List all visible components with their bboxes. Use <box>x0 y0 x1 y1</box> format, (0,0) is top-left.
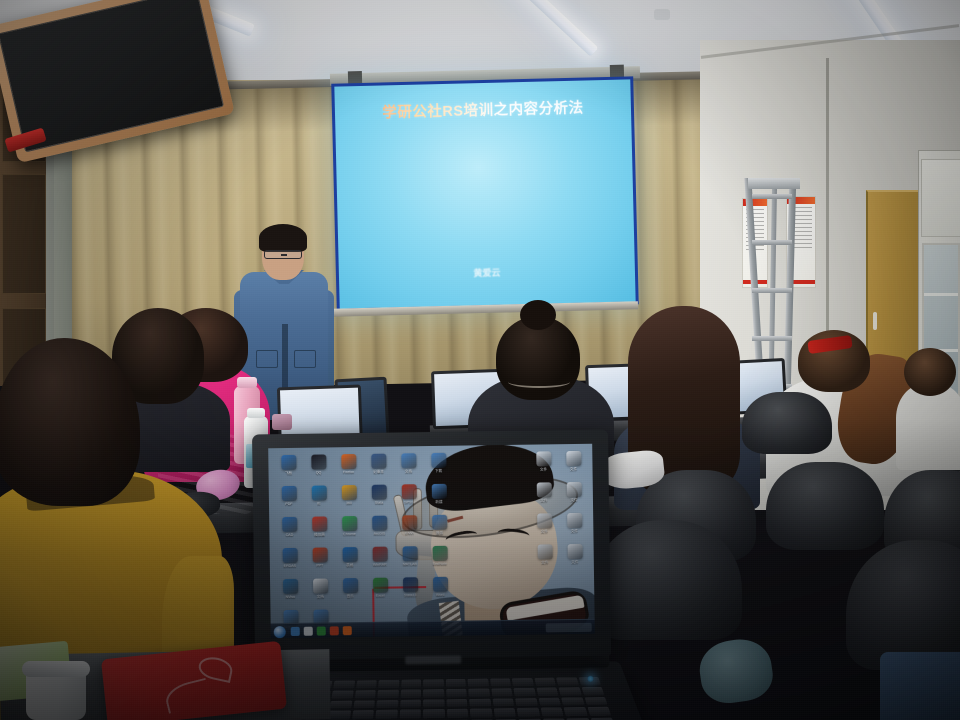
cabinet-top-shelf <box>921 159 960 237</box>
desktop-icon-label: 遥感 <box>425 531 453 540</box>
desktop-icon-label: CAD <box>275 533 303 542</box>
icon-r5-glyph <box>537 513 552 528</box>
desktop-icon-label: 文件 <box>560 529 588 538</box>
desktop-icon-label: MATLAB <box>396 562 424 571</box>
keyboard-key[interactable] <box>399 710 421 719</box>
shirt-pocket <box>294 350 316 368</box>
icon-notepad[interactable]: 记事本 <box>363 452 393 483</box>
keyboard-key[interactable] <box>556 677 578 685</box>
keyboard-key[interactable] <box>469 698 491 707</box>
keyboard-key[interactable] <box>401 680 421 688</box>
keyboard-key[interactable] <box>561 697 584 706</box>
cabinet-panel <box>2 174 46 294</box>
keyboard-key[interactable] <box>377 700 399 709</box>
keyboard-key[interactable] <box>534 678 556 686</box>
desktop-icon-label: NVivo <box>276 595 304 604</box>
system-tray[interactable] <box>546 623 592 633</box>
keyboard-key[interactable] <box>468 688 489 696</box>
desktop-icon-label: 文件 <box>559 467 587 476</box>
icon-r6-glyph <box>567 513 582 528</box>
student-hair <box>0 338 140 506</box>
start-button-icon[interactable] <box>274 626 286 638</box>
icon-nvivo-glyph <box>283 579 298 594</box>
icon-envi[interactable]: ENVI <box>394 513 424 544</box>
icon-360[interactable]: 360 <box>334 483 364 514</box>
desktop-icon-label: Chrome <box>335 532 363 541</box>
icon-r2[interactable]: 文件 <box>558 449 588 480</box>
keyboard-key[interactable] <box>587 707 611 716</box>
keyboard-key[interactable] <box>490 678 511 686</box>
keyboard-key[interactable] <box>423 709 445 718</box>
ladder-step <box>752 288 792 293</box>
keyboard-key[interactable] <box>512 678 534 686</box>
desktop-icon-label: 文件 <box>531 560 559 569</box>
desktop-icon-label: 文件 <box>530 498 558 507</box>
desktop-icon-label: 文件 <box>530 529 558 538</box>
icon-r8-glyph <box>568 544 583 559</box>
icon-player[interactable]: 播放器 <box>304 514 334 545</box>
chair-right-2 <box>766 462 884 550</box>
keyboard-key[interactable] <box>328 711 351 720</box>
icon-word-doc-glyph <box>313 578 328 593</box>
icon-endnote[interactable]: EndNote <box>425 544 455 575</box>
keyboard-key[interactable] <box>400 699 421 708</box>
icon-qq[interactable]: QQ <box>303 452 333 483</box>
book-pattern <box>163 678 212 714</box>
icon-word-doc[interactable]: 文档 <box>305 576 335 607</box>
keyboard-key[interactable] <box>334 680 355 688</box>
icon-acrobat[interactable]: PDF <box>274 484 304 515</box>
keyboard-key[interactable] <box>513 688 535 696</box>
bottle-cap <box>237 377 257 388</box>
icon-folder-rs-glyph <box>432 515 447 530</box>
icon-player-glyph <box>312 516 327 531</box>
student-body <box>896 384 960 470</box>
desktop-icon-label: 记事本 <box>365 470 393 479</box>
icon-word-glyph <box>433 577 448 592</box>
glasses-icon <box>264 250 302 259</box>
smoke-detector-icon <box>654 9 670 20</box>
icon-endnote-glyph <box>433 546 448 561</box>
icon-matlab-glyph <box>403 546 418 561</box>
keyboard-key[interactable] <box>446 689 467 697</box>
icon-powerpoint-glyph <box>313 547 328 562</box>
student-head <box>904 348 956 396</box>
keyboard-key[interactable] <box>538 697 561 706</box>
keyboard-key[interactable] <box>470 709 492 718</box>
laptop-brand-logo <box>405 656 461 665</box>
luffy-teeth <box>506 595 585 621</box>
keyboard-key[interactable] <box>423 699 444 708</box>
desktop-icon-label: 新建 <box>425 500 453 509</box>
icon-r4-glyph <box>567 482 582 497</box>
keyboard-key[interactable] <box>468 679 489 687</box>
desktop-icon-label: IE <box>305 501 333 510</box>
hair-bun <box>520 300 556 330</box>
icon-winamp[interactable]: 音乐 <box>335 576 365 607</box>
icon-r4[interactable]: 文件 <box>559 480 589 511</box>
classroom-photo: 学研公社RS培训之内容分析法 黄爱云 <box>0 0 960 720</box>
desktop-icon-label: 音乐 <box>336 594 364 603</box>
icon-folder-dl[interactable]: 下载 <box>423 451 453 482</box>
taskbar-icon[interactable] <box>291 627 300 636</box>
icon-cad[interactable]: CAD <box>274 515 304 546</box>
door-handle <box>873 312 877 330</box>
desktop-icon-label: ArcGIS <box>365 532 393 541</box>
desktop-icon-label: PDF <box>275 502 303 511</box>
keyboard-key[interactable] <box>446 699 467 708</box>
icon-r7-glyph <box>538 544 553 559</box>
desktop-icon-label: Excel <box>366 594 394 603</box>
icon-folder-doc[interactable]: 文档 <box>393 451 423 482</box>
icon-word[interactable]: Word <box>425 575 455 606</box>
keyboard-key[interactable] <box>378 690 399 698</box>
icon-qq-glyph <box>311 454 326 469</box>
icon-erdas[interactable]: ERDAS <box>275 546 305 577</box>
desktop-icon-label: 文档 <box>395 469 423 478</box>
cabinet-shelf <box>924 293 958 296</box>
icon-envi-glyph <box>402 515 417 530</box>
desktop-icon-grid[interactable]: 飞秋QQFirefox记事本文档下载PDFIE360StataSPSS新建CAD… <box>273 451 456 639</box>
icon-feiq-glyph <box>281 455 296 470</box>
presenter-hair <box>259 224 307 252</box>
icon-erdas-glyph <box>283 548 298 563</box>
desktop-icon-label: Word <box>426 593 454 602</box>
desktop-icon-grid-right[interactable]: 文件文件文件文件文件文件文件文件 <box>528 449 590 574</box>
desktop-icon-label: 360 <box>335 501 363 510</box>
icon-spss[interactable]: SPSS <box>394 482 424 513</box>
icon-matlab[interactable]: MATLAB <box>395 544 425 575</box>
keyboard-key[interactable] <box>353 700 375 709</box>
keyboard-key[interactable] <box>491 688 513 696</box>
projection-screen: 学研公社RS培训之内容分析法 黄爱云 <box>331 76 638 311</box>
keyboard-key[interactable] <box>356 680 377 688</box>
icon-r1-glyph <box>536 451 551 466</box>
keyboard-key[interactable] <box>355 690 377 698</box>
icon-firefox[interactable]: Firefox <box>333 452 363 483</box>
person-jeans <box>880 652 960 720</box>
icon-r5[interactable]: 文件 <box>529 511 559 542</box>
windows-taskbar[interactable] <box>271 619 595 639</box>
icon-folder-doc-glyph <box>401 453 416 468</box>
icon-folder-new-glyph <box>432 484 447 499</box>
taskbar-icon[interactable] <box>304 627 313 636</box>
keyboard-key[interactable] <box>564 707 588 716</box>
keyboard-key[interactable] <box>332 690 354 698</box>
keyboard-key[interactable] <box>517 708 540 717</box>
desktop-icon-label: SPSS <box>395 500 423 509</box>
white-cup <box>26 668 86 720</box>
icon-r8[interactable]: 文件 <box>560 542 590 573</box>
icon-notepad-glyph <box>371 454 386 469</box>
icon-r7[interactable]: 文件 <box>530 542 560 573</box>
keyboard-key[interactable] <box>400 689 421 697</box>
icon-excel-glyph <box>373 578 388 593</box>
desktop-icon-label: Stata <box>365 501 393 510</box>
laptop-lid: 飞秋QQFirefox记事本文档下载PDFIE360StataSPSS新建CAD… <box>252 430 611 661</box>
icon-nvivo[interactable]: NVivo <box>275 577 305 608</box>
desktop-icon-label: PPT <box>306 563 334 572</box>
keyboard-key[interactable] <box>446 679 467 687</box>
desktop-icon-label: ENVI <box>395 531 423 540</box>
icon-acrobat-glyph <box>282 486 297 501</box>
desktop-icon-label: Firefox <box>335 470 363 479</box>
icon-folder-dl-glyph <box>431 453 446 468</box>
icon-excel-blue-glyph <box>343 547 358 562</box>
slide-title: 学研公社RS培训之内容分析法 <box>335 95 631 123</box>
desktop-icon-label: 文件 <box>560 498 588 507</box>
icon-stata-2-glyph <box>403 577 418 592</box>
icon-firefox-glyph <box>341 454 356 469</box>
keyboard-key[interactable] <box>376 710 398 719</box>
laptop-screen[interactable]: 飞秋QQFirefox记事本文档下载PDFIE360StataSPSS新建CAD… <box>268 444 595 639</box>
keyboard-key[interactable] <box>493 708 516 717</box>
desktop-icon-label: 飞秋 <box>275 471 303 480</box>
keyboard-key[interactable] <box>559 687 582 695</box>
icon-arcgis[interactable]: ArcGIS <box>364 514 394 545</box>
icon-winrar[interactable]: WinRAR <box>365 545 395 576</box>
icon-360-glyph <box>342 485 357 500</box>
pink-case <box>272 414 292 430</box>
icon-stata[interactable]: Stata <box>364 483 394 514</box>
icon-cad-glyph <box>282 517 297 532</box>
cup-lid <box>22 661 90 677</box>
chair-front-right <box>846 540 960 670</box>
student-far-right <box>900 348 960 458</box>
icon-stata-2[interactable]: Stata13 <box>395 575 425 606</box>
ladder-top-cap <box>748 178 800 189</box>
desktop-icon-label: Stata13 <box>396 593 424 602</box>
slide-presenter-name: 黄爱云 <box>339 262 635 282</box>
chair-back <box>742 392 832 454</box>
keyboard-key[interactable] <box>515 698 538 707</box>
taskbar-icon[interactable] <box>330 626 339 635</box>
icon-r1[interactable]: 文件 <box>528 449 558 480</box>
keyboard-key[interactable] <box>330 700 352 709</box>
icon-winrar-glyph <box>373 547 388 562</box>
desktop-icon-label: 文件 <box>529 467 557 476</box>
keyboard-key[interactable] <box>447 709 469 718</box>
desktop-icon-label: 下载 <box>425 469 453 478</box>
icon-spss-glyph <box>402 484 417 499</box>
icon-folder-new[interactable]: 新建 <box>424 482 454 513</box>
desktop-icon-label: 播放器 <box>305 532 333 541</box>
keyboard-key[interactable] <box>540 708 563 717</box>
icon-stata-glyph <box>372 485 387 500</box>
keyboard-key[interactable] <box>352 710 374 719</box>
icon-chrome-glyph <box>342 516 357 531</box>
desktop-icon-label: QQ <box>305 470 333 479</box>
projected-slide: 学研公社RS培训之内容分析法 黄爱云 <box>334 79 635 308</box>
icon-feiq[interactable]: 飞秋 <box>273 453 303 484</box>
desktop-icon-label: 文件 <box>561 560 589 569</box>
blue-cloth <box>696 635 776 706</box>
icon-folder-rs[interactable]: 遥感 <box>424 513 454 544</box>
keyboard-key[interactable] <box>581 687 604 695</box>
desktop-icon-label: 表格 <box>336 563 364 572</box>
icon-winamp-glyph <box>343 578 358 593</box>
desktop-icon-label: EndNote <box>426 562 454 571</box>
taskbar-icon[interactable] <box>317 626 326 635</box>
icon-ie-glyph <box>312 485 327 500</box>
icon-chrome[interactable]: Chrome <box>334 514 364 545</box>
keyboard-key[interactable] <box>378 680 399 688</box>
keyboard-key[interactable] <box>584 697 608 706</box>
keyboard-key[interactable] <box>423 679 443 687</box>
keyboard-key[interactable] <box>492 698 514 707</box>
icon-arcgis-glyph <box>372 516 387 531</box>
icon-excel-blue[interactable]: 表格 <box>335 545 365 576</box>
desktop-icon-label: 文档 <box>306 594 334 603</box>
desktop-icon-label: WinRAR <box>366 563 394 572</box>
icon-powerpoint[interactable]: PPT <box>305 545 335 576</box>
bottle-cap <box>247 408 265 418</box>
icon-r2-glyph <box>566 451 581 466</box>
ladder-step <box>752 240 792 245</box>
keyboard-key[interactable] <box>423 689 444 697</box>
icon-r3-glyph <box>537 482 552 497</box>
keyboard-key[interactable] <box>536 687 558 695</box>
icon-r3[interactable]: 文件 <box>529 480 559 511</box>
icon-ie[interactable]: IE <box>304 483 334 514</box>
taskbar-icon[interactable] <box>343 626 352 635</box>
wall-corner <box>826 58 829 358</box>
ladder-step <box>752 194 792 199</box>
power-led-icon <box>587 676 593 682</box>
icon-r6[interactable]: 文件 <box>559 511 589 542</box>
icon-excel[interactable]: Excel <box>365 576 395 607</box>
desktop-icon-label: ERDAS <box>276 564 304 573</box>
necklace <box>508 376 570 388</box>
